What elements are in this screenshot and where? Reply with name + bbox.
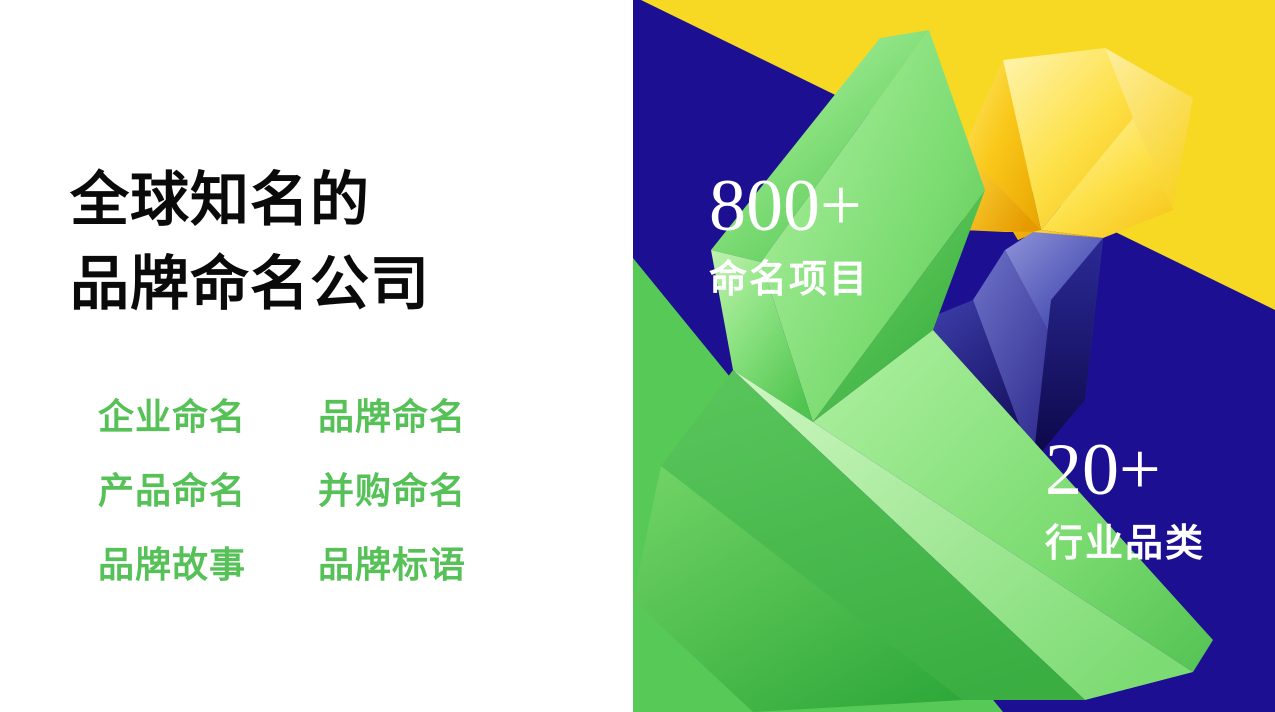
- stat-label: 行业品类: [1045, 522, 1205, 566]
- right-graphic-panel: 800+ 命名项目 20+ 行业品类: [633, 0, 1275, 712]
- service-row: 企业命名 品牌命名: [98, 396, 578, 470]
- service-row: 品牌故事 品牌标语: [98, 544, 578, 618]
- abstract-geometric-artwork: [633, 0, 1275, 712]
- stat-label: 命名项目: [709, 258, 869, 302]
- stat-naming-projects: 800+ 命名项目: [709, 168, 869, 302]
- stat-value: 800+: [709, 168, 869, 244]
- slide-canvas: 全球知名的 品牌命名公司 企业命名 品牌命名 产品命名 并购命名 品牌故事 品牌…: [0, 0, 1275, 712]
- page-title: 全球知名的 品牌命名公司: [70, 158, 610, 326]
- headline-line-2: 品牌命名公司: [70, 242, 610, 326]
- stat-industry-categories: 20+ 行业品类: [1045, 432, 1205, 566]
- service-item-enterprise-naming: 企业命名: [98, 396, 318, 438]
- headline-line-1: 全球知名的: [70, 158, 610, 242]
- stat-value: 20+: [1045, 432, 1205, 508]
- service-item-brand-story: 品牌故事: [98, 544, 318, 586]
- left-content-panel: 全球知名的 品牌命名公司 企业命名 品牌命名 产品命名 并购命名 品牌故事 品牌…: [0, 0, 633, 712]
- service-item-brand-slogan: 品牌标语: [318, 544, 538, 586]
- service-row: 产品命名 并购命名: [98, 470, 578, 544]
- service-item-merger-naming: 并购命名: [318, 470, 538, 512]
- service-item-brand-naming: 品牌命名: [318, 396, 538, 438]
- service-list: 企业命名 品牌命名 产品命名 并购命名 品牌故事 品牌标语: [98, 396, 578, 618]
- service-item-product-naming: 产品命名: [98, 470, 318, 512]
